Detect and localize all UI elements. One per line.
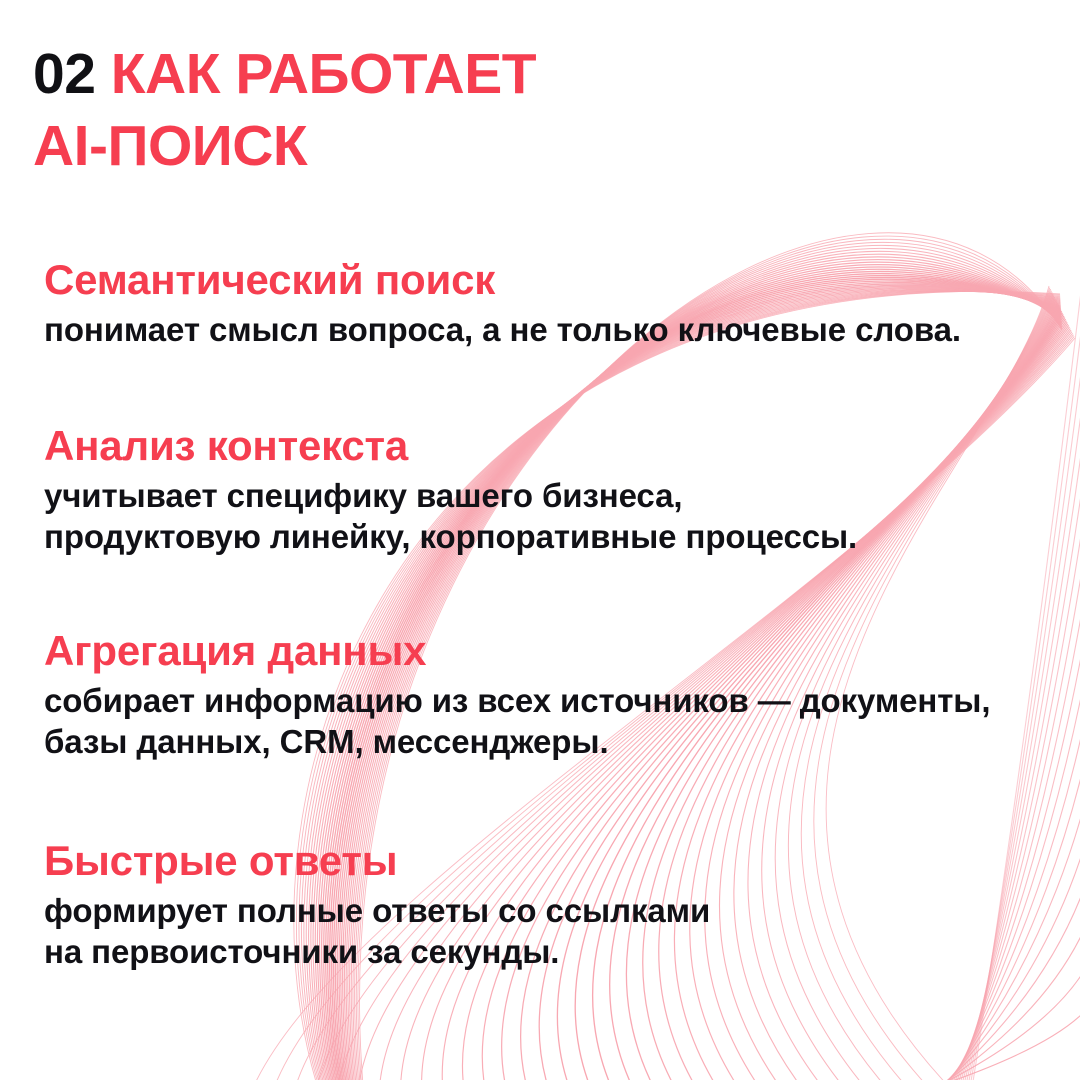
feature-body: понимает смысл вопроса, а не только ключ… [44,309,1054,350]
feature-body: собирает информацию из всех источников —… [44,680,1054,762]
feature-block-semantic-search: Семантический поиск понимает смысл вопро… [44,255,1054,350]
feature-body: формирует полные ответы со ссылками на п… [44,890,1054,972]
feature-body-line: формирует полные ответы со ссылками [44,890,1054,931]
slide-content: 02 КАК РАБОТАЕТ AI-ПОИСК Семантический п… [0,0,1080,1080]
title-main-line-one: КАК РАБОТАЕТ [111,42,536,106]
title-line-one: 02 КАК РАБОТАЕТ [33,38,1033,110]
title-line-two: AI-ПОИСК [33,110,1033,182]
feature-body-line: собирает информацию из всех источников —… [44,680,1054,721]
feature-block-fast-answers: Быстрые ответы формирует полные ответы с… [44,836,1054,972]
feature-body-line: понимает смысл вопроса, а не только ключ… [44,309,1054,350]
page-title: 02 КАК РАБОТАЕТ AI-ПОИСК [33,38,1033,182]
feature-block-data-aggregation: Агрегация данных собирает информацию из … [44,626,1054,762]
feature-body-line: продуктовую линейку, корпоративные проце… [44,516,1054,557]
section-number: 02 [33,42,95,106]
title-main-line-two: AI-ПОИСК [33,114,307,178]
feature-body-line: базы данных, CRM, мессенджеры. [44,721,1054,762]
feature-heading: Быстрые ответы [44,836,1054,886]
feature-body-line: учитывает специфику вашего бизнеса, [44,475,1054,516]
feature-block-context-analysis: Анализ контекста учитывает специфику ваш… [44,421,1054,557]
feature-heading: Агрегация данных [44,626,1054,676]
feature-body-line: на первоисточники за секунды. [44,931,1054,972]
slide-canvas: 02 КАК РАБОТАЕТ AI-ПОИСК Семантический п… [0,0,1080,1080]
feature-body: учитывает специфику вашего бизнеса, прод… [44,475,1054,557]
title-text-line-one [95,42,110,106]
feature-heading: Семантический поиск [44,255,1054,305]
feature-heading: Анализ контекста [44,421,1054,471]
